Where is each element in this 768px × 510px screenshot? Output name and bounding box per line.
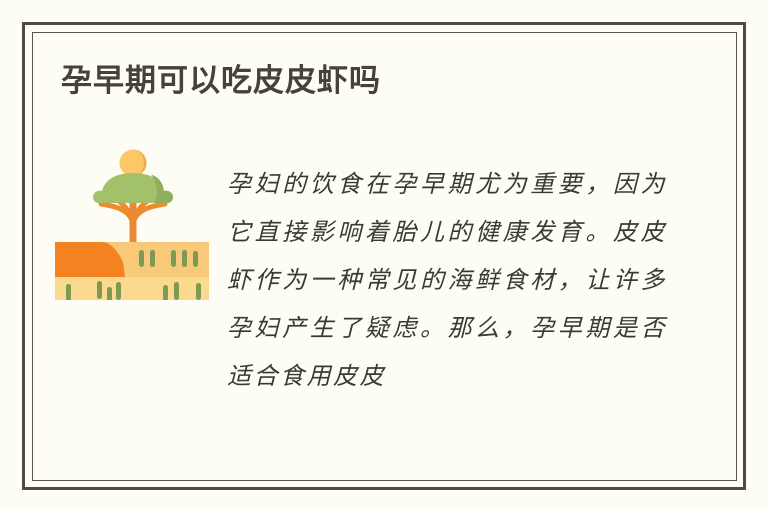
savanna-acacia-tree-icon [53,132,211,300]
savanna-illustration [53,132,211,300]
document-page: 孕早期可以吃皮皮虾吗 [0,0,768,510]
sand-lower-band [55,277,209,300]
article-body-text: 孕妇的饮食在孕早期尤为重要，因为它直接影响着胎儿的健康发育。皮皮虾作为一种常见的… [227,160,667,400]
sun-icon [120,150,147,177]
page-title: 孕早期可以吃皮皮虾吗 [61,62,381,101]
article-content: 孕早期可以吃皮皮虾吗 [32,32,737,481]
